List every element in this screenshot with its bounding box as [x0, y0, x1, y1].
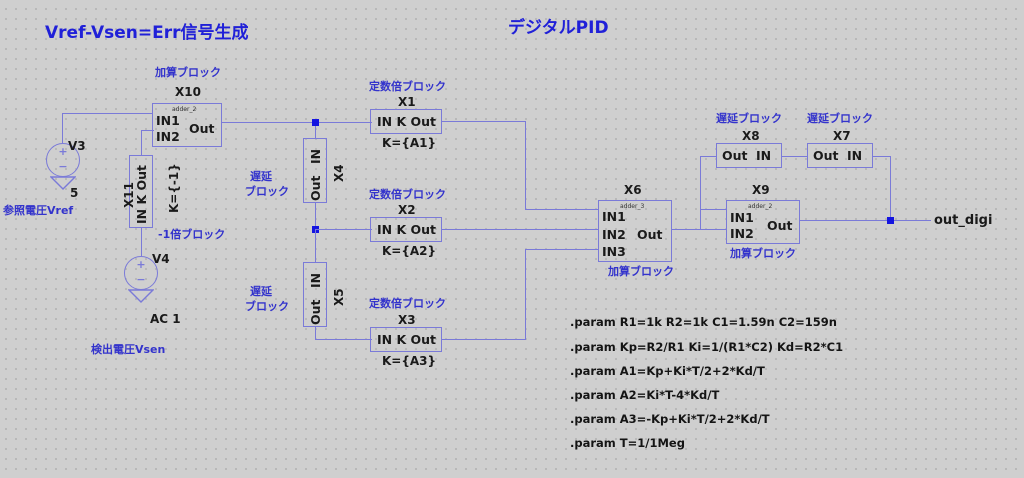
- x8-pin-out: Out: [722, 148, 748, 163]
- x11-caption: -1倍ブロック: [158, 228, 225, 241]
- wire-x3-out-v: [525, 249, 526, 340]
- v3-minus: −: [47, 160, 79, 173]
- wire-x1-out-v: [525, 121, 526, 210]
- x3-ref: X3: [398, 313, 416, 327]
- wire-x2-to-x6in2: [442, 229, 599, 230]
- v3-ref: V3: [68, 139, 86, 153]
- schematic-canvas: Vref-Vsen=Err信号生成 デジタルPID 加算ブロック X10: [0, 0, 1024, 478]
- x9-ref: X9: [752, 183, 770, 197]
- x5-ref: X5: [332, 288, 346, 306]
- wire-x3-to-x6in3: [525, 249, 599, 250]
- wire-x7-out-v: [890, 156, 891, 221]
- wire-v3-up: [62, 113, 63, 143]
- x10-pin-in2: IN2: [156, 129, 180, 144]
- x10-caption: 加算ブロック: [155, 66, 221, 79]
- v3-value: 5: [70, 186, 78, 200]
- title-left: Vref-Vsen=Err信号生成: [45, 18, 249, 43]
- x4-pin-in: IN: [308, 149, 323, 164]
- x11-body: IN K Out: [134, 165, 149, 224]
- block-x6[interactable]: adder_3 IN1 IN2 IN3 Out: [598, 200, 672, 262]
- wire-to-x2-in: [315, 229, 372, 230]
- x8-pin-in: IN: [756, 148, 771, 163]
- x11-value: K={-1}: [167, 163, 181, 213]
- block-x9[interactable]: adder_2 IN1 IN2 Out: [726, 200, 800, 244]
- param-line-3[interactable]: .param A2=Ki*T-4*Kd/T: [570, 388, 719, 402]
- block-x8[interactable]: Out IN: [716, 143, 782, 168]
- block-x1[interactable]: IN K Out: [370, 109, 442, 134]
- net-label-out-digi: out_digi: [934, 213, 992, 228]
- x4-caption-line1: 遅延: [250, 170, 272, 183]
- x6-pin-out: Out: [637, 227, 663, 242]
- block-x5[interactable]: IN Out: [303, 262, 327, 327]
- wire-x1-out-h: [442, 121, 526, 122]
- wire-x5-to-x3: [315, 339, 372, 340]
- wire-x9-out: [800, 220, 931, 221]
- param-line-5[interactable]: .param T=1/1Meg: [570, 436, 685, 450]
- junction-dot-1: [312, 119, 319, 126]
- x10-pin-out: Out: [189, 121, 215, 136]
- x11-ref: X11: [122, 182, 136, 208]
- param-line-2[interactable]: .param A1=Kp+Ki*T/2+2*Kd/T: [570, 364, 765, 378]
- wire-v3-to-in1: [62, 113, 153, 114]
- x3-body: IN K Out: [377, 332, 436, 347]
- x6-caption: 加算ブロック: [608, 265, 674, 278]
- wire-x9in1-v: [700, 156, 701, 230]
- x4-pin-out: Out: [308, 175, 323, 201]
- x5-pin-out: Out: [308, 299, 323, 325]
- wire-x7-out-h: [872, 156, 891, 157]
- x5-caption-line2: ブロック: [245, 300, 289, 313]
- x2-value: K={A2}: [382, 244, 436, 258]
- wire-x11-to-in2-v: [141, 130, 142, 156]
- block-x10[interactable]: adder_2 IN1 IN2 Out: [152, 103, 222, 147]
- x1-caption: 定数倍ブロック: [369, 80, 446, 93]
- param-line-0[interactable]: .param R1=1k R2=1k C1=1.59n C2=159n: [570, 315, 837, 329]
- x5-caption-line1: 遅延: [250, 285, 272, 298]
- x1-ref: X1: [398, 95, 416, 109]
- block-x3[interactable]: IN K Out: [370, 327, 442, 352]
- block-x4[interactable]: IN Out: [303, 138, 327, 203]
- v3-caption: 参照電圧Vref: [3, 204, 73, 217]
- v4-ground-icon: [128, 289, 154, 303]
- v4-value: AC 1: [150, 312, 181, 326]
- x5-pin-in: IN: [308, 273, 323, 288]
- param-line-1[interactable]: .param Kp=R2/R1 Ki=1/(R1*C2) Kd=R2*C1: [570, 340, 843, 354]
- x1-body: IN K Out: [377, 114, 436, 129]
- x7-caption: 遅延ブロック: [807, 112, 873, 125]
- x7-pin-in: IN: [847, 148, 862, 163]
- x8-ref: X8: [742, 129, 760, 143]
- x4-caption-line2: ブロック: [245, 185, 289, 198]
- wire-x3-out-h: [442, 339, 526, 340]
- wire-x1-to-x6in1: [525, 209, 599, 210]
- wire-x10-out: [222, 122, 372, 123]
- x10-pin-in1: IN1: [156, 113, 180, 128]
- v4-minus: −: [125, 273, 157, 286]
- x9-pin-in2: IN2: [730, 226, 754, 241]
- x6-pin-in3: IN3: [602, 244, 626, 259]
- title-center: デジタルPID: [508, 13, 609, 38]
- x10-subtitle: adder_2: [172, 106, 196, 113]
- x6-pin-in2: IN2: [602, 227, 626, 242]
- block-x2[interactable]: IN K Out: [370, 217, 442, 242]
- x9-subtitle: adder_2: [748, 203, 772, 210]
- wire-to-x8-left: [700, 156, 717, 157]
- param-line-4[interactable]: .param A3=-Kp+Ki*T/2+2*Kd/T: [570, 412, 770, 426]
- x7-ref: X7: [833, 129, 851, 143]
- x7-pin-out: Out: [813, 148, 839, 163]
- wire-to-x5-in: [315, 229, 316, 263]
- x2-caption: 定数倍ブロック: [369, 188, 446, 201]
- x10-ref: X10: [175, 85, 201, 99]
- v4-ref: V4: [152, 252, 170, 266]
- x9-caption: 加算ブロック: [730, 247, 796, 260]
- x9-pin-out: Out: [767, 218, 793, 233]
- x9-pin-in1: IN1: [730, 210, 754, 225]
- x6-pin-in1: IN1: [602, 209, 626, 224]
- x6-ref: X6: [624, 183, 642, 197]
- v4-caption: 検出電圧Vsen: [91, 343, 165, 356]
- wire-to-x9-in1: [700, 209, 727, 210]
- x2-ref: X2: [398, 203, 416, 217]
- x2-body: IN K Out: [377, 222, 436, 237]
- wire-x11-to-v4: [141, 228, 142, 256]
- x4-ref: X4: [332, 164, 346, 182]
- block-x7[interactable]: Out IN: [807, 143, 873, 168]
- x8-caption: 遅延ブロック: [716, 112, 782, 125]
- wire-x8-to-x7: [782, 156, 808, 157]
- x1-value: K={A1}: [382, 136, 436, 150]
- x3-value: K={A3}: [382, 354, 436, 368]
- junction-dot-out: [887, 217, 894, 224]
- x3-caption: 定数倍ブロック: [369, 297, 446, 310]
